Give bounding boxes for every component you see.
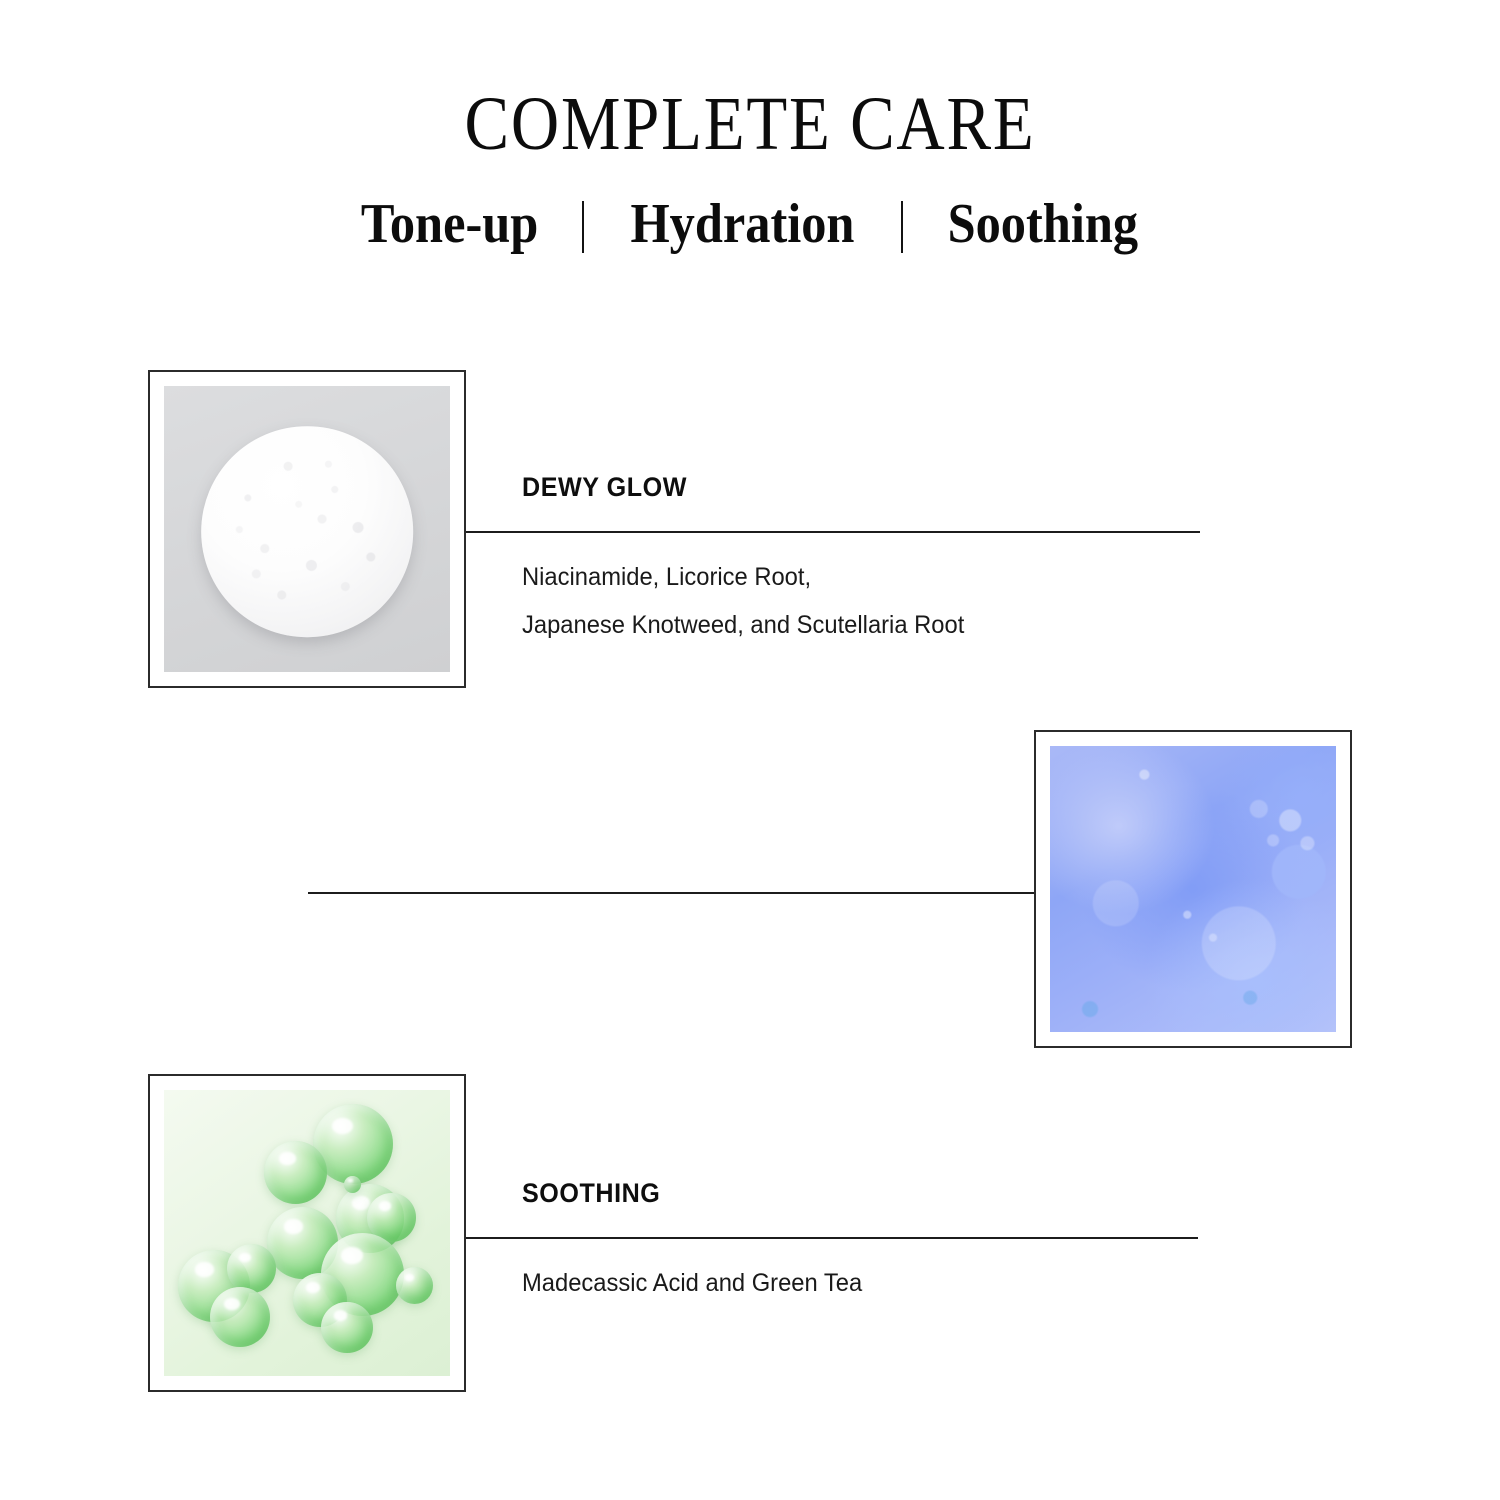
dewy-glow-description: Niacinamide, Licorice Root, Japanese Kno… xyxy=(522,553,964,649)
benefit-hydration: Hydration xyxy=(625,196,860,252)
benefit-soothing: Soothing xyxy=(942,196,1143,252)
soothing-image-frame xyxy=(148,1074,466,1392)
dewy-glow-description-line: Japanese Knotweed, and Scutellaria Root xyxy=(522,601,964,649)
header: COMPLETE CARE Tone-up Hydration Soothing xyxy=(0,0,1500,252)
green-molecule-image xyxy=(164,1090,450,1376)
powder-texture xyxy=(201,426,413,638)
soothing-label: SOOTHING xyxy=(522,1178,660,1209)
soothing-description: Madecassic Acid and Green Tea xyxy=(522,1259,862,1307)
benefit-separator-icon xyxy=(901,201,903,253)
dewy-glow-divider xyxy=(466,531,1200,533)
green-molecule-cluster xyxy=(164,1090,450,1376)
page-title: COMPLETE CARE xyxy=(90,0,1410,162)
powder-mound-shape xyxy=(201,426,413,638)
dewy-glow-description-line: Niacinamide, Licorice Root, xyxy=(522,553,964,601)
dewy-glow-label: DEWY GLOW xyxy=(522,472,687,503)
white-powder-image xyxy=(164,386,450,672)
blue-bubble-texture xyxy=(1050,746,1336,1032)
hydration-divider xyxy=(308,892,1034,894)
benefit-tone-up: Tone-up xyxy=(356,196,544,252)
dewy-glow-image-frame xyxy=(148,370,466,688)
hydration-image-frame xyxy=(1034,730,1352,1048)
blue-liquid-image xyxy=(1050,746,1336,1032)
soothing-divider xyxy=(466,1237,1198,1239)
benefits-row: Tone-up Hydration Soothing xyxy=(0,162,1500,252)
soothing-description-line: Madecassic Acid and Green Tea xyxy=(522,1259,862,1307)
benefit-separator-icon xyxy=(582,201,584,253)
